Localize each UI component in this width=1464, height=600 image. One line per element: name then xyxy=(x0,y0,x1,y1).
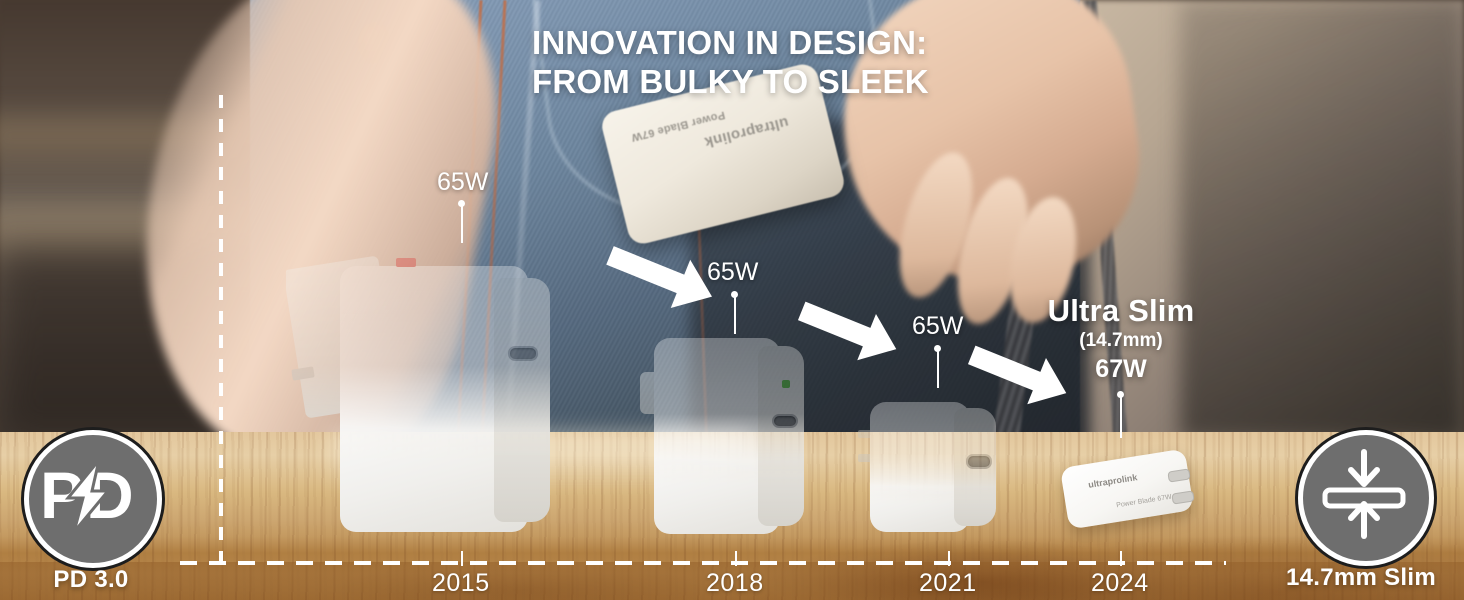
leader-line-2021 xyxy=(937,350,939,388)
page-title-line-2: FROM BULKY TO SLEEK xyxy=(532,63,929,102)
timeline-year-2024: 2024 xyxy=(1091,569,1149,598)
charger-2015 xyxy=(286,250,550,540)
badge-slim-label: 14.7mm Slim xyxy=(1266,564,1456,592)
charger-2021-usbc-port xyxy=(966,454,992,469)
infographic-banner: Power Blade 67W ultraprolink xyxy=(0,0,1464,600)
charger-2015-usbc-port xyxy=(508,346,538,361)
leader-line-2024 xyxy=(1120,396,1122,438)
page-title: INNOVATION IN DESIGN: FROM BULKY TO SLEE… xyxy=(532,24,929,102)
thickness-arrows-icon xyxy=(1317,446,1411,542)
leader-line-2018 xyxy=(734,296,736,334)
badge-pd: P D PD 3.0 xyxy=(24,430,164,600)
charger-2018-side xyxy=(758,346,804,526)
badge-pd-label: PD 3.0 xyxy=(24,566,158,594)
charger-2024-body xyxy=(1060,449,1194,530)
progression-arrow-3 xyxy=(960,340,1078,408)
charger-2015-side xyxy=(494,278,550,522)
charger-2024: ultraprolink Power Blade 67W xyxy=(1064,452,1204,538)
leader-line-2015 xyxy=(461,205,463,243)
charger-2021 xyxy=(858,396,1004,542)
ultra-slim-headline: Ultra Slim xyxy=(1012,294,1230,329)
timeline-tick-2021 xyxy=(948,551,950,566)
charger-2018-led xyxy=(782,380,790,388)
badge-slim: 14.7mm Slim xyxy=(1298,430,1428,600)
progression-arrow-2 xyxy=(790,296,908,364)
timeline-tick-2024 xyxy=(1120,551,1122,566)
wattage-label-2021: 65W xyxy=(912,312,963,341)
timeline-horizontal-dashed-line xyxy=(180,561,1226,565)
timeline-year-2021: 2021 xyxy=(919,569,977,598)
timeline-tick-2018 xyxy=(735,551,737,566)
timeline-year-2015: 2015 xyxy=(432,569,490,598)
pd-lightning-icon: P D xyxy=(38,458,148,534)
timeline-year-2018: 2018 xyxy=(706,569,764,598)
timeline-tick-2015 xyxy=(461,551,463,566)
timeline-vertical-dashed-line xyxy=(219,95,223,565)
progression-arrow-1 xyxy=(596,240,726,312)
charger-2015-led xyxy=(396,258,416,267)
charger-2018-usbc-port xyxy=(772,414,798,428)
wattage-label-2015: 65W xyxy=(437,168,488,197)
page-title-line-1: INNOVATION IN DESIGN: xyxy=(532,24,929,63)
